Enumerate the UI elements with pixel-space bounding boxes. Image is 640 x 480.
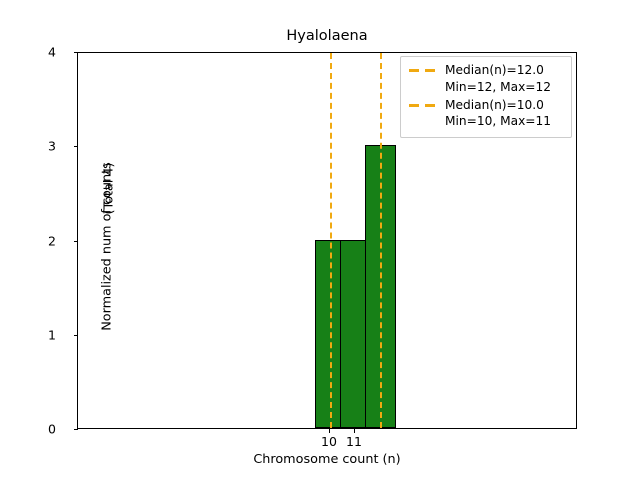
median-line-10 (330, 53, 332, 428)
legend-entry-0[interactable]: Median(n)=12.0 Min=12, Max=12 (408, 62, 564, 96)
dashed-line-swatch-icon (408, 64, 438, 78)
legend-entry-1-line1: Median(n)=10.0 (445, 97, 551, 114)
ytick-label-1: 1 (16, 327, 56, 342)
xtick-mark-10 (329, 429, 330, 433)
legend-entry-0-line1: Median(n)=12.0 (445, 62, 551, 79)
median-line-12 (380, 53, 382, 428)
xtick-mark-11 (354, 429, 355, 433)
ytick-label-0: 0 (16, 422, 56, 437)
ytick-label-3: 3 (16, 139, 56, 154)
dashed-line-swatch-icon (408, 99, 438, 113)
ytick-mark-0 (74, 429, 78, 430)
xtick-label-11: 11 (334, 434, 374, 449)
figure-canvas: Hyalolaena 4 3 2 1 0 10 11 Normalized nu… (0, 0, 640, 480)
chart-title: Hyalolaena (77, 28, 577, 44)
legend-entry-0-line2: Min=12, Max=12 (445, 79, 551, 96)
legend-entry-1-text: Median(n)=10.0 Min=10, Max=11 (445, 97, 551, 131)
x-axis-label: Chromosome count (n) (77, 452, 577, 467)
legend-entry-0-text: Median(n)=12.0 Min=12, Max=12 (445, 62, 551, 96)
ytick-label-2: 2 (16, 233, 56, 248)
legend[interactable]: Median(n)=12.0 Min=12, Max=12 Median(n)=… (400, 56, 572, 138)
legend-entry-1[interactable]: Median(n)=10.0 Min=10, Max=11 (408, 97, 564, 131)
ytick-label-4: 4 (16, 45, 56, 60)
legend-entry-1-line2: Min=10, Max=11 (445, 113, 551, 130)
